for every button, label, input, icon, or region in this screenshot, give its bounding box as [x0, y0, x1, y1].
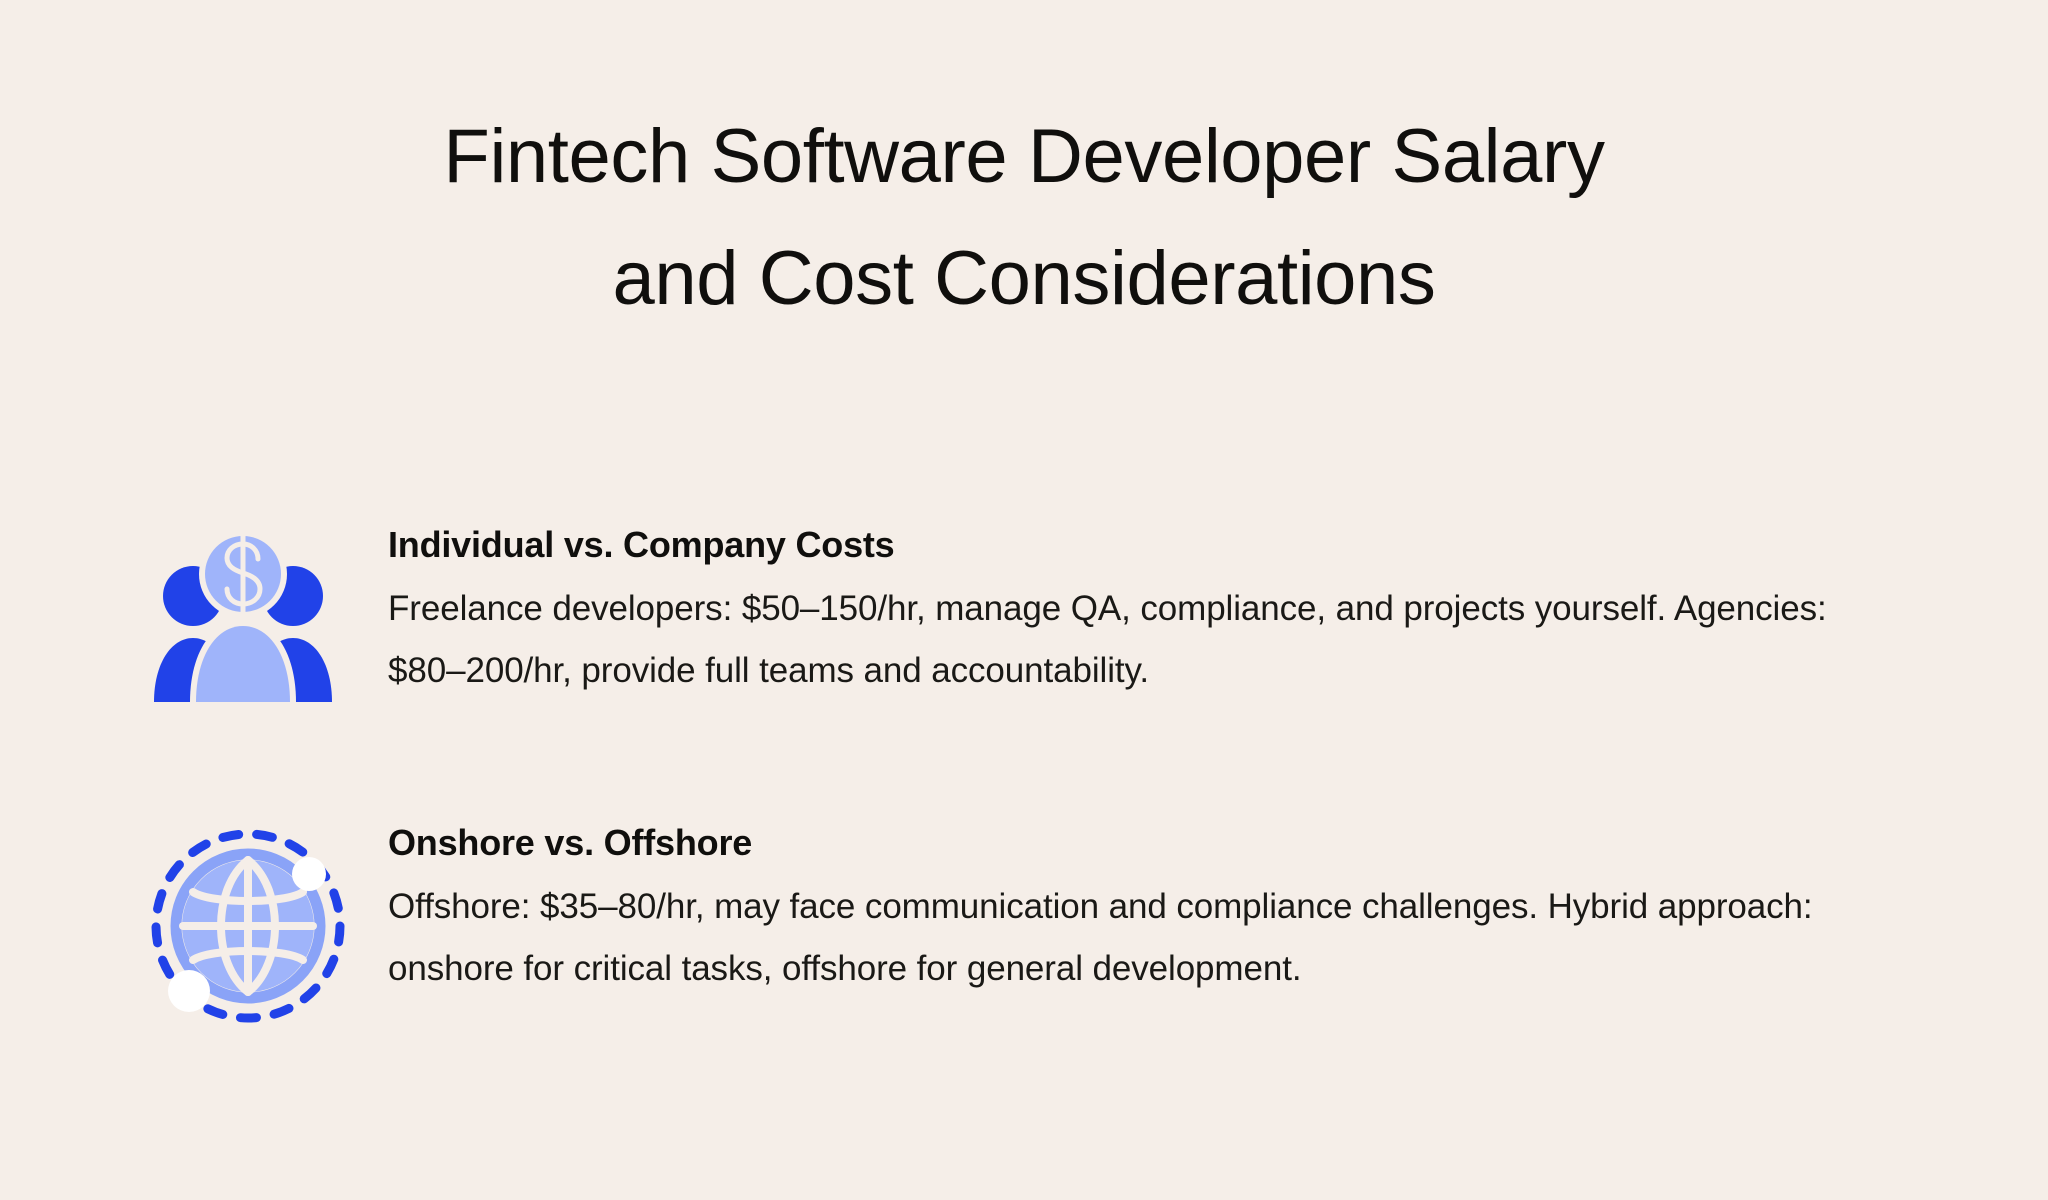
icon-cell-1 [148, 520, 388, 702]
title-line-1: Fintech Software Developer Salary [0, 96, 2048, 218]
people-dollar-icon [148, 526, 338, 702]
globe-network-icon [148, 826, 348, 1026]
section-item-individual-vs-company: Individual vs. Company Costs Freelance d… [0, 520, 2048, 702]
title-line-2: and Cost Considerations [0, 218, 2048, 340]
sections-list: Individual vs. Company Costs Freelance d… [0, 520, 2048, 1026]
section-item-onshore-vs-offshore: Onshore vs. Offshore Offshore: $35–80/hr… [0, 820, 2048, 1026]
page-title: Fintech Software Developer Salary and Co… [0, 96, 2048, 340]
text-cell-2: Onshore vs. Offshore Offshore: $35–80/hr… [388, 820, 1928, 1000]
text-cell-1: Individual vs. Company Costs Freelance d… [388, 520, 1928, 702]
section-body: Freelance developers: $50–150/hr, manage… [388, 578, 1908, 702]
icon-cell-2 [148, 820, 388, 1026]
section-body: Offshore: $35–80/hr, may face communicat… [388, 876, 1908, 1000]
section-heading: Individual vs. Company Costs [388, 522, 1928, 568]
section-heading: Onshore vs. Offshore [388, 820, 1928, 866]
slide-canvas: Fintech Software Developer Salary and Co… [0, 0, 2048, 1200]
